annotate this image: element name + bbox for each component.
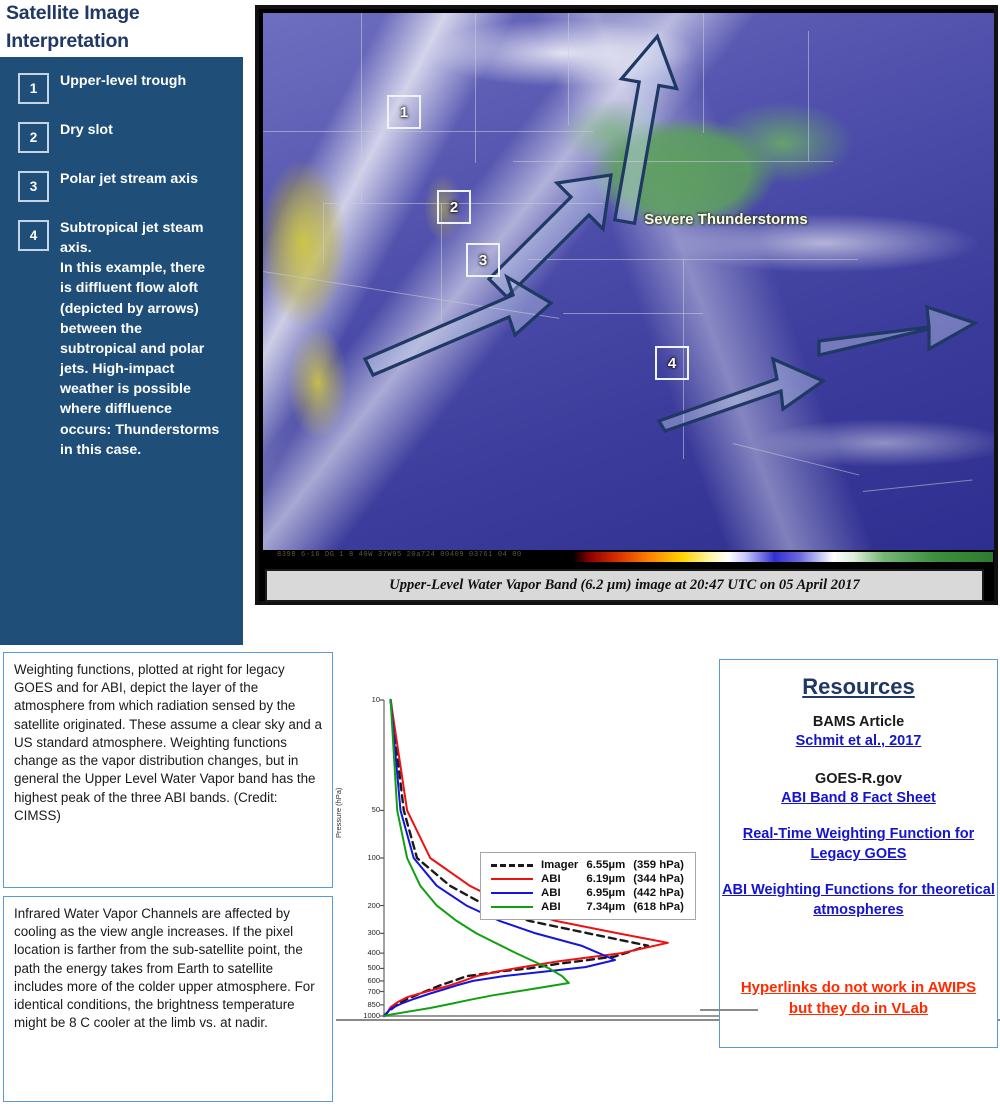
state-border-line <box>683 259 684 349</box>
state-border-line <box>808 31 809 161</box>
legend-label-4-main: Subtropical jet steam axis. <box>60 220 204 256</box>
slide-root: Satellite Image Interpretation 1 Upper-l… <box>0 0 1000 1107</box>
chart-legend-body: Imager6.55µm(359 hPa)ABI6.19µm(344 hPa)A… <box>487 858 688 914</box>
legend-line-swatch <box>491 906 533 908</box>
chart-y-tick-label: 10 <box>372 695 380 704</box>
resources-box: Resources BAMS ArticleSchmit et al., 201… <box>719 659 998 1048</box>
chart-legend-peak-pressure: (344 hPa) <box>629 872 688 886</box>
chart-legend-swatch <box>487 900 537 914</box>
state-border-line <box>568 13 569 125</box>
legend-sidebar: 1 Upper-level trough 2 Dry slot 3 Polar … <box>0 57 243 645</box>
legend-item-3: 3 Polar jet stream axis <box>18 169 235 202</box>
chart-legend-row: Imager6.55µm(359 hPa) <box>487 858 688 872</box>
resource-link[interactable]: ABI Weighting Functions for theoretical … <box>720 881 997 920</box>
satellite-marker-2: 2 <box>437 190 471 224</box>
legend-line-swatch <box>491 892 533 894</box>
state-border-line <box>475 13 476 163</box>
chart-legend-wavelength: 7.34µm <box>582 900 629 914</box>
state-border-line <box>361 13 362 203</box>
chart-legend-series-name: Imager <box>537 858 582 872</box>
resource-link[interactable]: ABI Band 8 Fact Sheet <box>720 789 997 809</box>
legend-line-swatch <box>491 864 533 867</box>
chart-legend-series-name: ABI <box>537 900 582 914</box>
view-angle-textbox: Infrared Water Vapor Channels are affect… <box>3 896 333 1102</box>
hyperlink-warning-text: Hyperlinks do not work in AWIPS but they… <box>732 978 985 1019</box>
colorbar-gradient <box>573 552 993 562</box>
legend-badge-4: 4 <box>18 220 49 251</box>
resources-spacer <box>720 752 997 767</box>
chart-legend-series-name: ABI <box>537 872 582 886</box>
chart-y-tick-label: 500 <box>367 963 380 972</box>
satellite-marker-3: 3 <box>466 243 500 277</box>
pointer-line <box>700 1009 758 1011</box>
chart-legend-row: ABI6.19µm(344 hPa) <box>487 872 688 886</box>
chart-y-tick-label: 200 <box>367 901 380 910</box>
weighting-function-chart: Pressure (hPa) Imager6.55µm(359 hPa)ABI6… <box>336 688 726 1033</box>
legend-label-3: Polar jet stream axis <box>60 169 198 189</box>
chart-y-tick-label: 850 <box>367 1000 380 1009</box>
chart-legend-wavelength: 6.19µm <box>582 872 629 886</box>
resource-link[interactable]: Real-Time Weighting Function for Legacy … <box>720 825 997 864</box>
legend-item-4: 4 Subtropical jet steam axis. In this ex… <box>18 218 235 460</box>
legend-badge-1: 1 <box>18 73 49 104</box>
severe-thunderstorms-label: Severe Thunderstorms <box>641 209 811 231</box>
legend-item-1: 1 Upper-level trough <box>18 71 235 104</box>
resources-spacer <box>720 864 997 879</box>
weighting-functions-textbox: Weighting functions, plotted at right fo… <box>3 652 333 888</box>
legend-line-swatch <box>491 878 533 880</box>
satellite-colorbar: 8398 6-16 DG 1 8 40W 37W95 20a724 00409 … <box>263 550 994 564</box>
chart-legend-swatch <box>487 858 537 872</box>
chart-legend-table: Imager6.55µm(359 hPa)ABI6.19µm(344 hPa)A… <box>487 858 688 914</box>
chart-y-tick-label: 700 <box>367 987 380 996</box>
resources-spacer <box>720 808 997 823</box>
legend-label-4: Subtropical jet steam axis. In this exam… <box>60 218 220 460</box>
legend-badge-3: 3 <box>18 171 49 202</box>
colorbar-readout-text: 8398 6-16 DG 1 8 40W 37W95 20a724 00409 … <box>277 551 522 559</box>
chart-legend-wavelength: 6.95µm <box>582 886 629 900</box>
chart-legend-peak-pressure: (442 hPa) <box>629 886 688 900</box>
chart-y-tick-label: 600 <box>367 976 380 985</box>
page-title: Satellite Image Interpretation <box>6 0 246 55</box>
satellite-image-caption: Upper-Level Water Vapor Band (6.2 µm) im… <box>265 569 984 602</box>
chart-legend-swatch <box>487 886 537 900</box>
resource-link[interactable]: Schmit et al., 2017 <box>720 732 997 752</box>
resources-entry-list: BAMS ArticleSchmit et al., 2017GOES-R.go… <box>720 714 997 920</box>
satellite-marker-4: 4 <box>655 346 689 380</box>
chart-legend-wavelength: 6.55µm <box>582 858 629 872</box>
legend-label-1: Upper-level trough <box>60 71 186 91</box>
state-border-line <box>323 203 324 263</box>
legend-item-2: 2 Dry slot <box>18 120 235 153</box>
chart-legend: Imager6.55µm(359 hPa)ABI6.19µm(344 hPa)A… <box>480 852 696 920</box>
chart-y-tick-label: 100 <box>367 853 380 862</box>
diffluence-arrow-east <box>817 279 979 359</box>
chart-legend-series-name: ABI <box>537 886 582 900</box>
coastline <box>733 443 859 476</box>
state-border-line <box>703 13 704 133</box>
legend-label-2: Dry slot <box>60 120 113 140</box>
legend-badge-2: 2 <box>18 122 49 153</box>
chart-legend-row: ABI7.34µm(618 hPa) <box>487 900 688 914</box>
resource-heading: GOES-R.gov <box>720 771 997 787</box>
resource-heading: BAMS Article <box>720 714 997 730</box>
chart-legend-peak-pressure: (618 hPa) <box>629 900 688 914</box>
coastline <box>863 480 973 493</box>
water-vapor-satellite-image: 1 2 3 4 Severe Thunderstorms <box>263 13 994 550</box>
legend-label-4-extra: In this example, there is diffluent flow… <box>60 258 220 460</box>
satellite-image-frame: 1 2 3 4 Severe Thunderstorms 8398 6-16 D… <box>255 5 998 605</box>
state-border-line <box>263 131 593 132</box>
resources-title: Resources <box>720 674 997 700</box>
chart-y-tick-label: 400 <box>367 948 380 957</box>
chart-y-tick-label: 50 <box>372 805 380 814</box>
diffluence-arrow-mid <box>485 153 615 283</box>
coastline <box>563 313 703 314</box>
satellite-marker-1: 1 <box>387 95 421 129</box>
chart-legend-swatch <box>487 872 537 886</box>
chart-legend-row: ABI6.95µm(442 hPa) <box>487 886 688 900</box>
chart-y-tick-label: 300 <box>367 928 380 937</box>
diffluence-arrow-west <box>363 271 553 381</box>
chart-legend-peak-pressure: (359 hPa) <box>629 858 688 872</box>
